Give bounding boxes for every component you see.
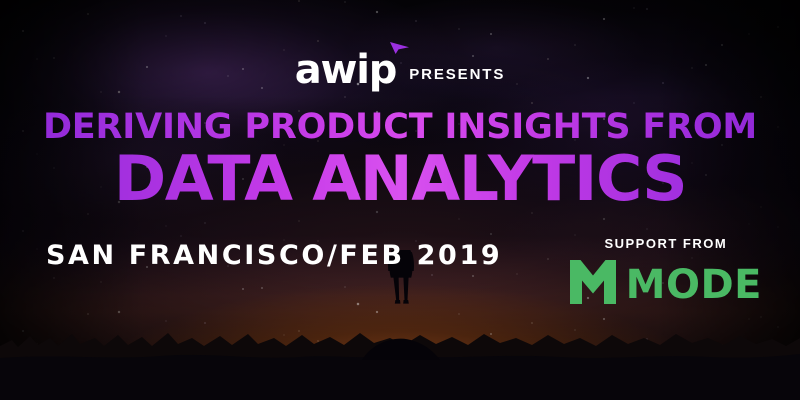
awip-logo: awip [295, 52, 397, 89]
headline-block: DERIVING PRODUCT INSIGHTS FROM DATA ANAL… [0, 110, 800, 210]
mode-m-icon [570, 260, 616, 309]
event-banner: awip PRESENTS DERIVING PRODUCT INSIGHTS … [0, 0, 800, 400]
headline-line-1: DERIVING PRODUCT INSIGHTS FROM [0, 110, 800, 145]
mode-wordmark: MODE [626, 265, 762, 305]
banner-content: awip PRESENTS DERIVING PRODUCT INSIGHTS … [0, 0, 800, 400]
brand-row: awip PRESENTS [0, 52, 800, 89]
awip-logo-text: awip [295, 47, 397, 93]
headline-line-2: DATA ANALYTICS [0, 148, 800, 210]
presents-label: PRESENTS [409, 66, 505, 89]
sponsor-block: SUPPORT FROM MODE [570, 236, 762, 309]
event-location-date: SAN FRANCISCO/FEB 2019 [46, 240, 502, 271]
sponsor-label: SUPPORT FROM [570, 236, 762, 251]
sponsor-brand: MODE [570, 260, 762, 309]
